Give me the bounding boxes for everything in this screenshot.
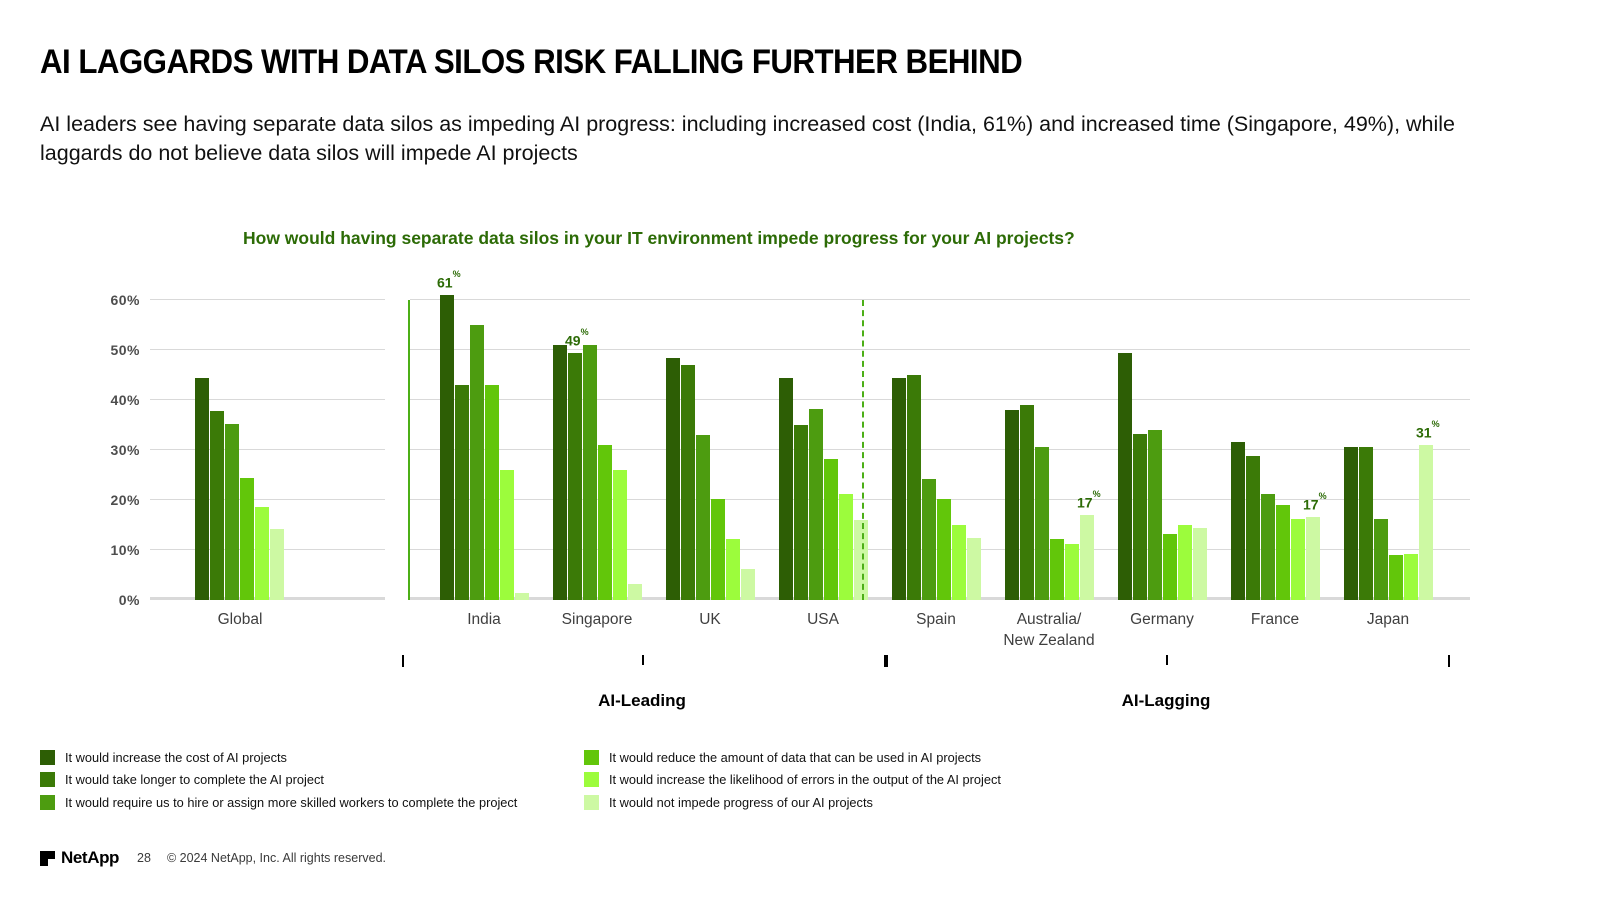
footer: NetApp 28 © 2024 NetApp, Inc. All rights… bbox=[40, 848, 386, 868]
legend-swatch bbox=[584, 795, 599, 810]
bar-group bbox=[195, 300, 284, 600]
bar bbox=[1344, 447, 1358, 601]
legend-label: It would not impede progress of our AI p… bbox=[609, 795, 873, 810]
bar bbox=[583, 345, 597, 600]
bar bbox=[681, 365, 695, 600]
legend-label: It would require us to hire or assign mo… bbox=[65, 795, 517, 810]
bar bbox=[854, 520, 868, 600]
bar bbox=[1246, 456, 1260, 600]
bar bbox=[1020, 405, 1034, 600]
legend-column-right: It would reduce the amount of data that … bbox=[584, 750, 1001, 818]
page-number: 28 bbox=[137, 851, 151, 865]
country-chart-panel: IndiaSingaporeUKUSASpainAustralia/New Ze… bbox=[410, 300, 1470, 600]
bar bbox=[1276, 505, 1290, 600]
bar bbox=[500, 470, 514, 600]
legend-item[interactable]: It would require us to hire or assign mo… bbox=[40, 795, 517, 809]
bar-group bbox=[1344, 300, 1433, 600]
bar bbox=[1050, 539, 1064, 600]
bar bbox=[455, 385, 469, 600]
netapp-logo-icon bbox=[40, 851, 55, 866]
bar bbox=[809, 409, 823, 601]
bar bbox=[568, 353, 582, 601]
bar-group bbox=[1118, 300, 1207, 600]
bar bbox=[270, 529, 284, 601]
bar bbox=[666, 358, 680, 601]
legend-label: It would increase the cost of AI project… bbox=[65, 750, 287, 765]
bar bbox=[210, 411, 224, 601]
legend-swatch bbox=[584, 750, 599, 765]
bar bbox=[598, 445, 612, 600]
legend-label: It would increase the likelihood of erro… bbox=[609, 772, 1001, 787]
y-axis-tick-label: 60% bbox=[80, 292, 140, 308]
bar-group bbox=[1231, 300, 1320, 600]
bar bbox=[907, 375, 921, 600]
bar bbox=[1080, 515, 1094, 600]
slide: AI LAGGARDS WITH DATA SILOS RISK FALLING… bbox=[0, 0, 1600, 900]
bracket-label: AI-Lagging bbox=[886, 691, 1446, 711]
y-axis-tick-label: 0% bbox=[80, 592, 140, 608]
bar bbox=[515, 593, 529, 601]
bar bbox=[1261, 494, 1275, 601]
panel-left-rule bbox=[408, 300, 410, 600]
x-axis-category-label: Global bbox=[160, 610, 320, 631]
legend-label: It would take longer to complete the AI … bbox=[65, 772, 324, 787]
bar bbox=[1178, 525, 1192, 601]
bar bbox=[1193, 528, 1207, 601]
leading-lagging-divider bbox=[862, 300, 864, 600]
legend-swatch bbox=[584, 772, 599, 787]
bar bbox=[1163, 534, 1177, 601]
bar bbox=[628, 584, 642, 601]
bracket-center-tick bbox=[1166, 655, 1168, 665]
group-bracket bbox=[886, 655, 1450, 667]
data-value-callout: 61% bbox=[437, 274, 461, 291]
bar bbox=[1306, 517, 1320, 601]
bar bbox=[1065, 544, 1079, 601]
bar bbox=[892, 378, 906, 601]
bar-group bbox=[666, 300, 755, 600]
bracket-center-tick bbox=[642, 655, 644, 665]
bar-group bbox=[892, 300, 981, 600]
x-axis-category-label: Japan bbox=[1308, 610, 1468, 631]
bar bbox=[794, 425, 808, 600]
bar bbox=[839, 494, 853, 600]
bar-group bbox=[779, 300, 868, 600]
bar bbox=[1148, 430, 1162, 600]
bar bbox=[240, 478, 254, 600]
bar bbox=[937, 499, 951, 601]
y-axis-tick-label: 30% bbox=[80, 442, 140, 458]
bar bbox=[470, 325, 484, 600]
y-axis: 0%10%20%30%40%50%60% bbox=[90, 300, 150, 600]
bar bbox=[726, 539, 740, 600]
y-axis-tick-label: 10% bbox=[80, 542, 140, 558]
legend-label: It would reduce the amount of data that … bbox=[609, 750, 981, 765]
bar bbox=[824, 459, 838, 600]
bar bbox=[195, 378, 209, 601]
netapp-logo: NetApp bbox=[40, 848, 119, 868]
bar bbox=[1359, 447, 1373, 601]
data-value-callout: 49% bbox=[565, 332, 589, 349]
legend-item[interactable]: It would reduce the amount of data that … bbox=[584, 750, 1001, 764]
bar bbox=[952, 525, 966, 600]
data-value-callout: 31% bbox=[1416, 424, 1440, 441]
bar bbox=[967, 538, 981, 601]
page-title: AI LAGGARDS WITH DATA SILOS RISK FALLING… bbox=[40, 44, 1346, 81]
bar bbox=[1118, 353, 1132, 601]
bar bbox=[485, 385, 499, 600]
legend-item[interactable]: It would increase the cost of AI project… bbox=[40, 750, 517, 764]
chart-question-title: How would having separate data silos in … bbox=[243, 228, 1363, 249]
bar bbox=[1231, 442, 1245, 600]
bar bbox=[1389, 555, 1403, 600]
y-axis-tick-label: 20% bbox=[80, 492, 140, 508]
legend-swatch bbox=[40, 750, 55, 765]
legend-item[interactable]: It would not impede progress of our AI p… bbox=[584, 795, 1001, 809]
bar bbox=[1404, 554, 1418, 600]
bar-group bbox=[1005, 300, 1094, 600]
bar bbox=[1133, 434, 1147, 600]
bar bbox=[553, 345, 567, 600]
bar bbox=[1005, 410, 1019, 600]
data-value-callout: 17% bbox=[1077, 494, 1101, 511]
bar bbox=[1374, 519, 1388, 600]
y-axis-tick-label: 40% bbox=[80, 392, 140, 408]
bar bbox=[225, 424, 239, 601]
bar bbox=[922, 479, 936, 601]
bar bbox=[613, 470, 627, 600]
bar bbox=[255, 507, 269, 601]
bar bbox=[440, 295, 454, 600]
copyright-notice: © 2024 NetApp, Inc. All rights reserved. bbox=[167, 851, 386, 865]
bar bbox=[1291, 519, 1305, 601]
bar bbox=[711, 499, 725, 601]
bar bbox=[741, 569, 755, 600]
bar bbox=[779, 378, 793, 601]
bar-group bbox=[440, 300, 529, 600]
global-chart-panel: Global bbox=[150, 300, 385, 600]
data-value-callout: 17% bbox=[1303, 496, 1327, 513]
legend-item[interactable]: It would increase the likelihood of erro… bbox=[584, 773, 1001, 787]
legend-item[interactable]: It would take longer to complete the AI … bbox=[40, 773, 517, 787]
netapp-logo-text: NetApp bbox=[61, 848, 119, 868]
bar bbox=[696, 435, 710, 600]
page-subtitle: AI leaders see having separate data silo… bbox=[40, 110, 1540, 168]
bracket-label: AI-Leading bbox=[402, 691, 882, 711]
bar bbox=[1419, 445, 1433, 600]
legend-swatch bbox=[40, 772, 55, 787]
legend-column-left: It would increase the cost of AI project… bbox=[40, 750, 517, 818]
y-axis-tick-label: 50% bbox=[80, 342, 140, 358]
legend-swatch bbox=[40, 795, 55, 810]
group-bracket bbox=[402, 655, 886, 667]
bar bbox=[1035, 447, 1049, 601]
